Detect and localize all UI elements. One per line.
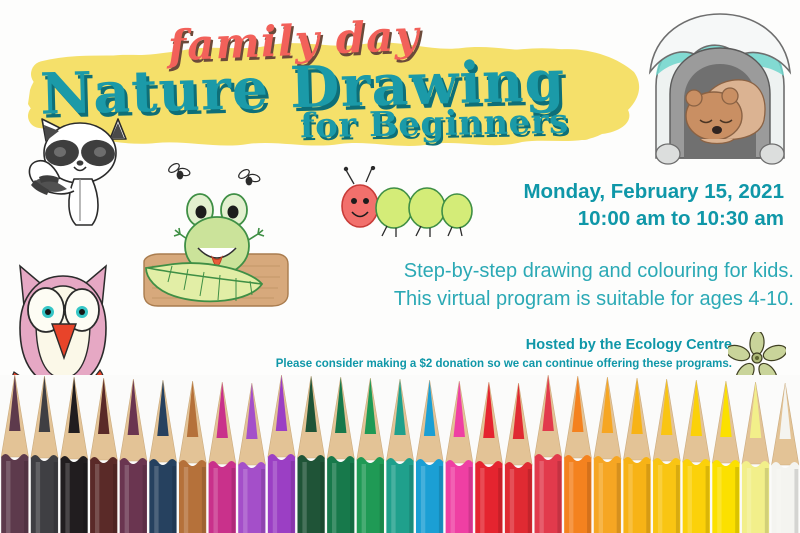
pencil (357, 378, 384, 533)
pencil (446, 381, 473, 533)
pencil (268, 375, 295, 533)
description-line-1: Step-by-step drawing and colouring for k… (394, 258, 794, 286)
pencil (535, 375, 562, 533)
colored-pencils-row (0, 375, 800, 533)
event-datetime: Monday, February 15, 2021 10:00 am to 10… (523, 178, 784, 232)
pencil (31, 376, 58, 533)
pencil (653, 379, 680, 533)
headline-group: family day Nature Drawing for Beginners (0, 0, 800, 160)
pencil (623, 378, 650, 533)
headline-for-beginners: for Beginners (300, 102, 569, 147)
pencil (60, 377, 87, 533)
poster-canvas: family day Nature Drawing for Beginners (0, 0, 800, 533)
pencil (475, 382, 502, 533)
pencil (179, 381, 206, 533)
pencil (594, 377, 621, 533)
event-date: Monday, February 15, 2021 (523, 178, 784, 205)
pencil (327, 377, 354, 533)
pencil (238, 383, 265, 533)
pencil (742, 382, 769, 533)
donation-notice: Please consider making a $2 donation so … (276, 358, 732, 370)
pencil (209, 382, 236, 533)
frog-illustration (138, 178, 293, 323)
pencil (90, 378, 117, 533)
pencil (564, 376, 591, 533)
event-description: Step-by-step drawing and colouring for k… (394, 258, 794, 313)
pencil (120, 379, 147, 533)
pencil (386, 379, 413, 533)
pencil (505, 383, 532, 533)
pencil (297, 376, 324, 533)
caterpillar-illustration (332, 166, 474, 238)
hosted-by-text: Hosted by the Ecology Centre (526, 337, 732, 353)
pencil (712, 381, 739, 533)
pencil (1, 375, 28, 533)
pencil (683, 380, 710, 533)
pencil (149, 380, 176, 533)
pencil (416, 380, 443, 533)
description-line-2: This virtual program is suitable for age… (394, 286, 794, 314)
event-time: 10:00 am to 10:30 am (523, 205, 784, 232)
pencil (772, 383, 799, 533)
